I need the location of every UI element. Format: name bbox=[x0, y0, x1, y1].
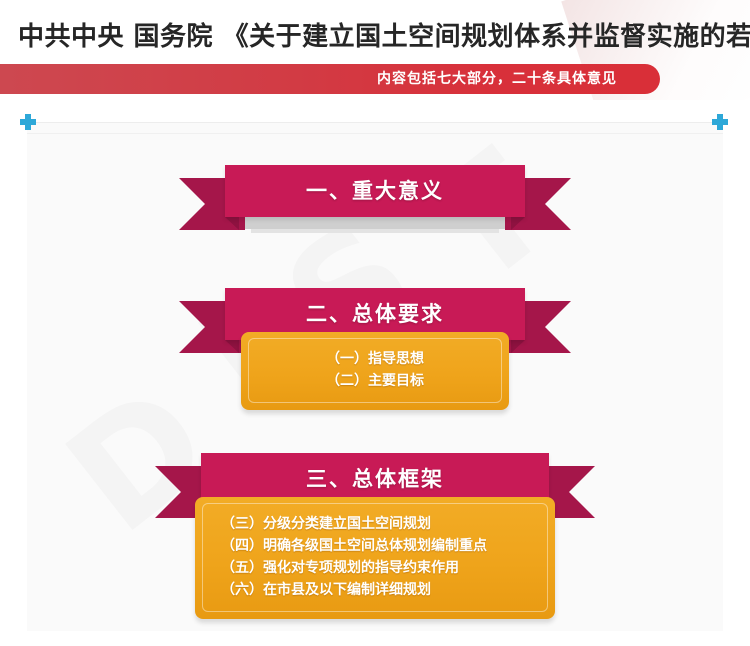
list-item[interactable]: （四）明确各级国土空间总体规划编制重点 bbox=[195, 535, 555, 557]
list-item[interactable]: （一）指导思想 bbox=[241, 348, 509, 370]
list-item[interactable]: （二）主要目标 bbox=[241, 370, 509, 392]
content-card: D I S T 一、重大意义 bbox=[27, 122, 723, 631]
page-title: 中共中央 国务院 《关于建立国土空间规划体系并监督实施的若干意见》 bbox=[18, 21, 750, 54]
section-2-panel: （一）指导思想 （二）主要目标 bbox=[241, 332, 509, 410]
section-2-item-list: （一）指导思想 （二）主要目标 bbox=[241, 348, 509, 392]
section-1-title: 一、重大意义 bbox=[179, 165, 571, 217]
section-3-item-list: （三）分级分类建立国土空间规划 （四）明确各级国土空间总体规划编制重点 （五）强… bbox=[195, 513, 555, 601]
section-1: 一、重大意义 bbox=[27, 165, 723, 217]
subtitle-text: 内容包括七大部分，二十条具体意见 bbox=[0, 64, 645, 94]
section-3-panel: （三）分级分类建立国土空间规划 （四）明确各级国土空间总体规划编制重点 （五）强… bbox=[195, 497, 555, 619]
ribbon-shelf bbox=[241, 217, 509, 229]
section-3: 三、总体框架 （三）分级分类建立国土空间规划 （四）明确各级国土空间总体规划编制… bbox=[27, 453, 723, 619]
page-header: 中共中央 国务院 《关于建立国土空间规划体系并监督实施的若干意见》 内容包括七大… bbox=[0, 0, 750, 100]
section-1-ribbon[interactable]: 一、重大意义 bbox=[179, 165, 571, 217]
list-item[interactable]: （五）强化对专项规划的指导约束作用 bbox=[195, 557, 555, 579]
section-2: 二、总体要求 （一）指导思想 （二）主要目标 bbox=[27, 288, 723, 410]
list-item[interactable]: （六）在市县及以下编制详细规划 bbox=[195, 579, 555, 601]
list-item[interactable]: （三）分级分类建立国土空间规划 bbox=[195, 513, 555, 535]
sections-list: 一、重大意义 二、总体要求 （一）指导思想 （二）主要目标 bbox=[27, 123, 723, 631]
ribbon-shelf-lip bbox=[251, 229, 499, 233]
